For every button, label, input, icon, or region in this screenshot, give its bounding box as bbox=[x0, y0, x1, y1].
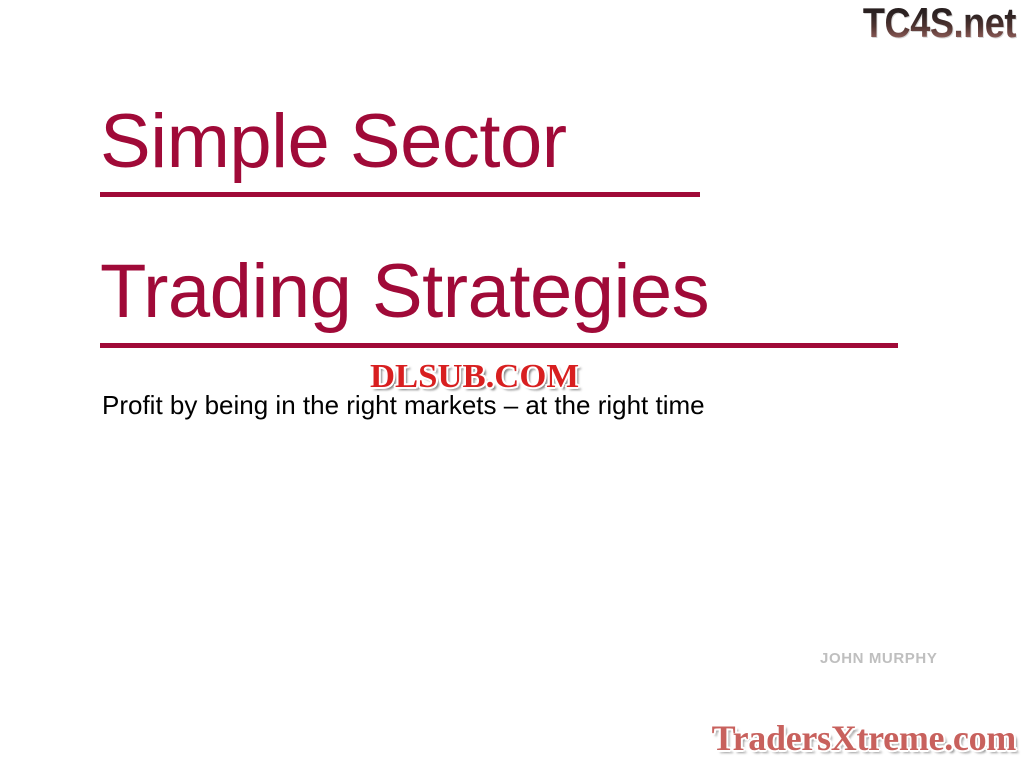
tradersxtreme-brand-logo: TradersXtreme.com bbox=[712, 720, 1016, 756]
dlsub-watermark: DLSUB.COM bbox=[370, 360, 579, 394]
slide-subtitle: Profit by being in the right markets – a… bbox=[102, 390, 705, 421]
author-name: JOHN MURPHY bbox=[820, 650, 937, 667]
tc4s-brand-logo: TC4S.net bbox=[863, 2, 1016, 44]
page-title-line-2: Trading Strategies bbox=[100, 254, 930, 330]
page-title-line-1: Simple Sector bbox=[100, 104, 930, 180]
title-block: Simple Sector Trading Strategies bbox=[100, 104, 930, 330]
title-underline-2 bbox=[100, 343, 898, 348]
title-underline-1 bbox=[100, 192, 700, 197]
presentation-slide: TC4S.net Simple Sector Trading Strategie… bbox=[0, 0, 1024, 768]
